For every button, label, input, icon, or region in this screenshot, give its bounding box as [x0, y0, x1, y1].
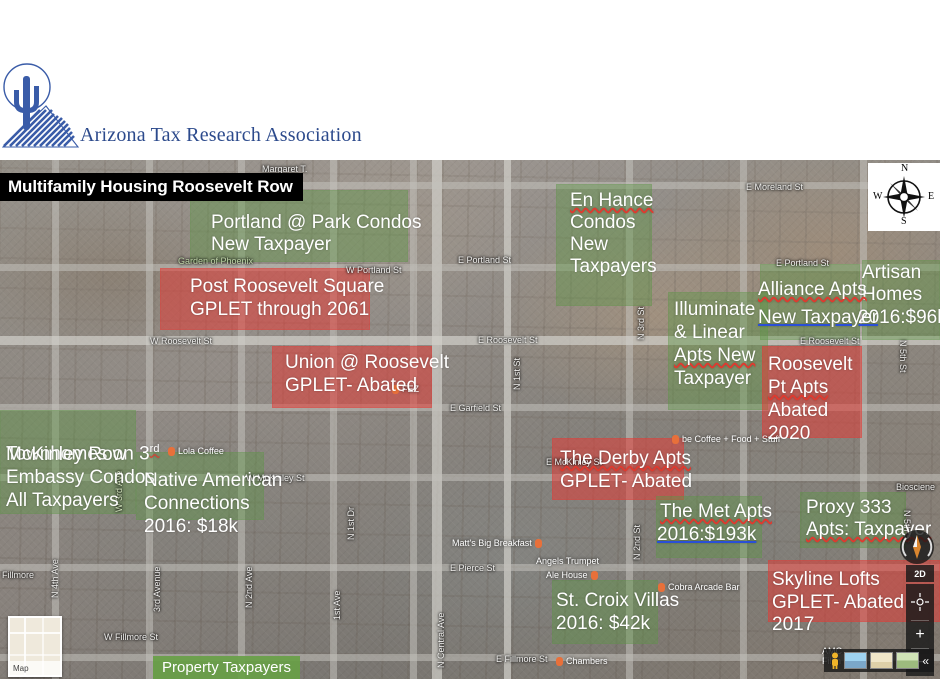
annotation-en-hance-line3: New: [570, 234, 608, 256]
annotation-artisan-homes-line2: Homes: [862, 284, 922, 306]
map-2d-toggle-button[interactable]: 2D: [906, 565, 934, 582]
annotation-proxy-333-line1: Proxy 333: [806, 497, 892, 519]
street-label-n-central-ave: N Central Ave: [436, 613, 446, 668]
poi-marker-icon: [535, 539, 542, 548]
road-fillmore-st: [0, 654, 940, 661]
street-label-w-fillmore-st: W Fillmore St: [104, 632, 158, 642]
layer-thumb-map[interactable]: [896, 652, 919, 669]
poi-label: Chambers: [566, 656, 608, 666]
annotation-nac-line3: 2016: $18k: [144, 516, 238, 538]
street-label-n-2nd-ave: N 2nd Ave: [244, 567, 254, 608]
annotation-post-roosevelt-square-line2: GPLET through 2061: [190, 299, 369, 321]
annotation-union-roosevelt-line1: Union @ Roosevelt: [285, 352, 449, 374]
atra-logo: [2, 62, 80, 148]
basemap-toggle-thumbnail[interactable]: Map: [8, 616, 62, 677]
annotation-townhomes-line4: All Taxpayers: [6, 490, 119, 512]
annotation-en-hance-line1: En Hance: [570, 190, 653, 212]
organization-name: Arizona Tax Research Association: [80, 124, 362, 147]
street-label-e-roosevelt-st-east: E Roosevelt St: [800, 336, 860, 346]
poi-marker-icon: [556, 657, 563, 666]
compass-rose: N S E W: [868, 163, 940, 231]
poi-angels-trumpet[interactable]: Angels Trumpet: [536, 556, 599, 566]
annotation-st-croix-line1: St. Croix Villas: [556, 590, 679, 612]
annotation-roosevelt-pt-line3: Abated: [768, 400, 828, 422]
annotation-met-apts-line2: 2016:$193k: [657, 524, 756, 546]
street-label-1st-ave: 1st Ave: [332, 591, 342, 620]
annotation-skyline-lofts-line1: Skyline Lofts: [772, 569, 880, 591]
street-label-e-fillmore-st: E Fillmore St: [496, 654, 548, 664]
poi-label: Ale House: [546, 570, 588, 580]
legend-property-taxpayers: Property Taxpayers: [153, 656, 300, 679]
pegman-icon[interactable]: [829, 652, 841, 670]
street-label-w-portland-st: W Portland St: [346, 265, 402, 275]
annotation-illuminate-line2: & Linear: [674, 322, 745, 344]
street-label-fillmore: Fillmore: [2, 570, 34, 580]
annotation-en-hance-line2: Condos: [570, 212, 636, 234]
poi-marker-icon: [591, 571, 598, 580]
map-canvas[interactable]: Margaret T. ce Park E Moreland St Garden…: [0, 160, 940, 679]
road-vertical: [410, 160, 417, 679]
layer-thumb-satellite[interactable]: [844, 652, 867, 669]
map-title-banner: Multifamily Housing Roosevelt Row: [0, 173, 303, 201]
thumb-line: [10, 654, 60, 656]
compass-south-label: S: [901, 216, 907, 227]
map-layers-bar[interactable]: «: [824, 649, 934, 672]
street-label-n-3rd-st: N 3rd St: [636, 307, 646, 340]
street-label-e-portland-st-east: E Portland St: [776, 258, 829, 268]
thumb-line: [10, 632, 60, 634]
layer-thumb-terrain[interactable]: [870, 652, 893, 669]
street-label-biosciene: Biosciene: [896, 482, 935, 492]
road-central-ave: [432, 160, 442, 679]
annotation-derby-apts-line2: GPLET- Abated: [560, 471, 692, 493]
map-pan-joystick[interactable]: [906, 584, 934, 620]
poi-matts-big-breakfast[interactable]: Matt's Big Breakfast: [452, 538, 542, 548]
compass-north-label: N: [901, 163, 908, 174]
street-label-n-4th-ave: N 4th Ave: [50, 559, 60, 598]
annotation-nac-line2: Connections: [144, 493, 250, 515]
street-label-e-garfield-st: E Garfield St: [450, 403, 501, 413]
road-vertical: [504, 160, 511, 679]
street-label-w-roosevelt-st: W Roosevelt St: [150, 336, 212, 346]
poi-be-coffee[interactable]: be Coffee + Food + Stuff: [672, 434, 780, 444]
poi-marker-icon: [168, 447, 175, 456]
poi-label: Matt's Big Breakfast: [452, 538, 532, 548]
poi-marker-icon: [672, 435, 679, 444]
street-label-n-1st-dr: N 1st Dr: [346, 507, 356, 540]
annotation-townhomes-line3: Embassy Condos: [6, 467, 155, 489]
poi-lola-coffee[interactable]: Lola Coffee: [168, 446, 224, 456]
map-compass-control[interactable]: [900, 530, 934, 564]
annotation-illuminate-line1: Illuminate: [674, 299, 755, 321]
annotation-illuminate-line3: Apts New: [674, 345, 755, 367]
map-zoom-in-button[interactable]: +: [906, 621, 934, 648]
annotation-roosevelt-pt-line2: Pt Apts: [768, 377, 828, 399]
poi-chambers[interactable]: Chambers: [556, 656, 608, 666]
street-label-n-5th-st: N 5th St: [898, 340, 908, 373]
annotation-roosevelt-pt-line1: Roosevelt: [768, 354, 853, 376]
compass-west-label: W: [873, 191, 882, 202]
annotation-union-roosevelt-line2: GPLET- Abated: [285, 375, 417, 397]
map-title-text: Multifamily Housing Roosevelt Row: [8, 177, 293, 197]
street-label-e-moreland-st: E Moreland St: [746, 182, 803, 192]
annotation-alliance-apts-line1: Alliance Apts: [758, 279, 867, 301]
collapse-chevron-icon[interactable]: «: [922, 654, 929, 668]
street-label-e-roosevelt-st: E Roosevelt St: [478, 335, 538, 345]
annotation-townhomes-line2: McKinley Row: [6, 444, 126, 466]
poi-label: Angels Trumpet: [536, 556, 599, 566]
annotation-nac-line1: Native American: [144, 470, 282, 492]
slide-header: Arizona Tax Research Association: [0, 0, 940, 160]
annotation-artisan-homes-line1: Artisan: [862, 262, 921, 284]
road-vertical: [740, 160, 747, 679]
slide-root: Arizona Tax Research Association: [0, 0, 940, 679]
annotation-st-croix-line2: 2016: $42k: [556, 613, 650, 635]
annotation-illuminate-line4: Taxpayer: [674, 368, 751, 390]
annotation-en-hance-line4: Taxpayers: [570, 256, 657, 278]
poi-label: be Coffee + Food + Stuff: [682, 434, 780, 444]
compass-east-label: E: [928, 191, 934, 202]
street-label-garden-of-phoenix: Garden of Phoenix: [178, 256, 253, 266]
poi-label: Lola Coffee: [178, 446, 224, 456]
street-label-e-pierce-st: E Pierce St: [450, 563, 495, 573]
street-label-n-2nd-st: N 2nd St: [632, 525, 642, 560]
annotation-alliance-apts-line2: New Taxpayer: [758, 307, 878, 329]
annotation-townhomes-ordinal: rd: [150, 443, 160, 455]
annotation-derby-apts-line1: The Derby Apts: [560, 448, 691, 470]
annotation-post-roosevelt-square-line1: Post Roosevelt Square: [190, 276, 384, 298]
street-label-e-portland-st: E Portland St: [458, 255, 511, 265]
annotation-roosevelt-pt-line4: 2020: [768, 423, 810, 445]
basemap-toggle-label: Map: [13, 664, 29, 673]
street-label-n-1st-st: N 1st St: [512, 358, 522, 390]
poi-ale-house[interactable]: Ale House: [546, 570, 598, 580]
annotation-portland-park-condos-line2: New Taxpayer: [211, 234, 331, 256]
street-label-3rd-avenue: 3rd Avenue: [152, 567, 162, 612]
annotation-met-apts-line1: The Met Apts: [660, 501, 772, 523]
annotation-portland-park-condos-line1: Portland @ Park Condos: [211, 212, 421, 234]
